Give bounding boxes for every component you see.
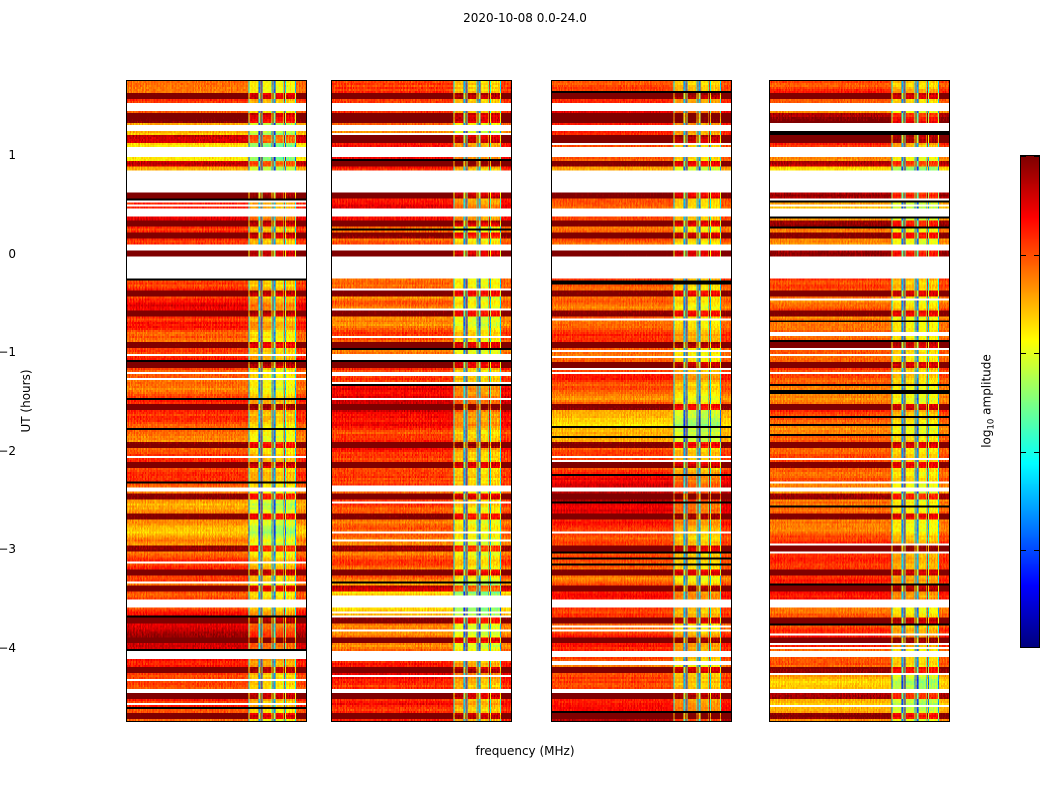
y-axis-label: UT (hours) [19, 369, 33, 432]
waterfall-image-yx [770, 81, 949, 721]
colorbar[interactable] [1020, 155, 1040, 648]
colorbar-tick-label: 0 [8, 247, 16, 261]
colorbar-tick-mark [1034, 353, 1039, 354]
y-axis-yx: 05101520 [769, 81, 770, 722]
colorbar-tick-label: −1 [0, 345, 16, 359]
colorbar-tick-label: −3 [0, 542, 16, 556]
figure-suptitle: 2020-10-08 0.0-24.0 [0, 11, 1050, 25]
spectrum-panel-xx[interactable]: XX, V1*V2=EA02*EA12320335350365380051015… [126, 80, 307, 722]
waterfall-image-xy [552, 81, 731, 721]
waterfall-image-yy [332, 81, 511, 721]
colorbar-gradient [1021, 156, 1039, 647]
colorbar-tick-mark [1034, 550, 1039, 551]
colorbar-tick-mark [1021, 452, 1026, 453]
y-axis-xy: 05101520 [551, 81, 552, 722]
colorbar-tick-mark [1021, 550, 1026, 551]
spectrum-panel-yx[interactable]: YX, V1*V2=EA02*EA12320335350365380051015… [769, 80, 950, 722]
spectrum-panel-yy[interactable]: YY, V1*V2=EA02*EA12320335350365380051015… [331, 80, 512, 722]
colorbar-tick-mark [1034, 156, 1039, 157]
colorbar-tick-mark [1034, 452, 1039, 453]
spectrum-panel-xy[interactable]: XY, V1*V2=EA02*EA12320335350365380051015… [551, 80, 732, 722]
waterfall-image-xx [127, 81, 306, 721]
colorbar-tick-label: −2 [0, 444, 16, 458]
colorbar-tick-mark [1034, 255, 1039, 256]
colorbar-tick-label: 1 [8, 148, 16, 162]
colorbar-tick-mark [1021, 353, 1026, 354]
y-axis-yy: 05101520 [331, 81, 332, 722]
colorbar-tick-mark [1021, 156, 1026, 157]
colorbar-label: log10 amplitude [979, 354, 996, 448]
colorbar-tick-mark [1021, 255, 1026, 256]
colorbar-tick-label: −4 [0, 641, 16, 655]
y-axis-xx: 05101520 [126, 81, 127, 722]
figure-canvas: 2020-10-08 0.0-24.0 XX, V1*V2=EA02*EA123… [0, 0, 1050, 800]
x-axis-label: frequency (MHz) [0, 744, 1050, 758]
